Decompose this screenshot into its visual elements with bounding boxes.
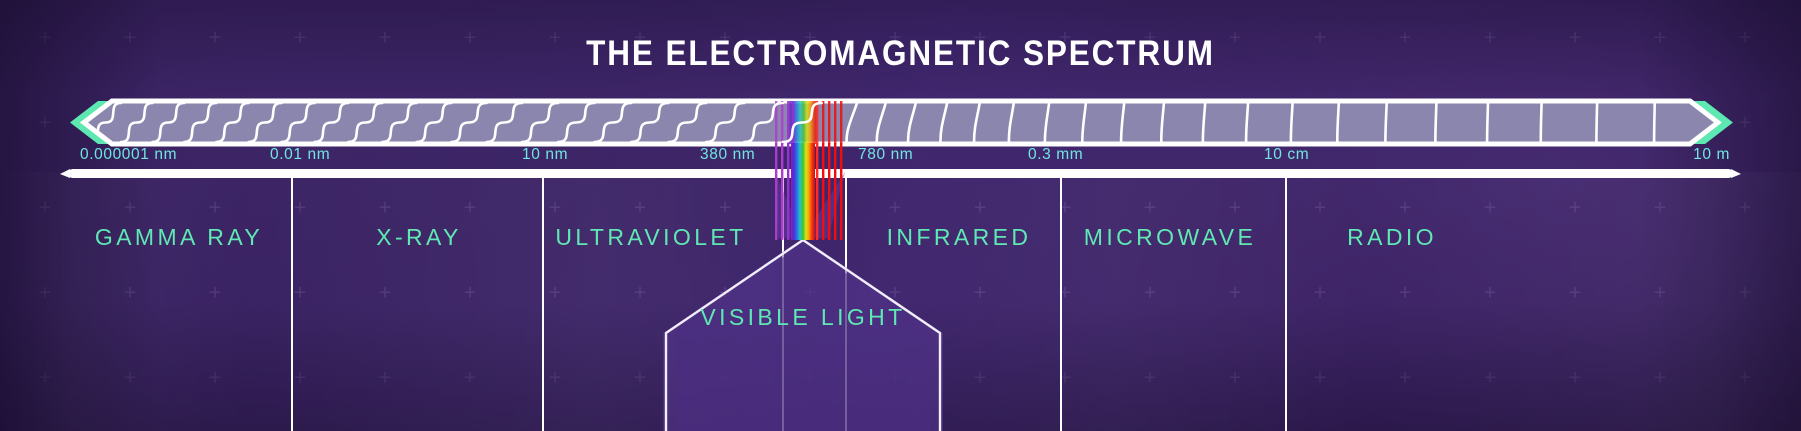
bar-red-line <box>822 101 824 144</box>
waveform-segment <box>1596 103 1597 142</box>
band-divider-1 <box>542 178 544 431</box>
band-divider-0 <box>291 178 293 431</box>
bar-violet-line <box>787 101 789 144</box>
waveform-segment <box>1385 103 1386 142</box>
wavelength-label-5: 0.3 mm <box>1028 146 1083 164</box>
bar-red-line <box>840 101 842 144</box>
band-label-microwave: MICROWAVE <box>1084 224 1256 251</box>
waveform-segment <box>1541 103 1542 142</box>
bar-red-line <box>828 101 830 144</box>
scale-axis-rule <box>68 169 1733 178</box>
band-label-infrared: INFRARED <box>887 224 1032 251</box>
bar-violet-line <box>775 101 777 144</box>
bar-violet-line <box>781 101 783 144</box>
spectrum-bar <box>0 92 1801 152</box>
bar-red-line <box>816 101 818 144</box>
waveform-segment <box>1654 103 1655 142</box>
callout-label-visible-light: VISIBLE LIGHT <box>700 304 905 331</box>
waveform-segment <box>1487 103 1488 142</box>
wavelength-label-6: 10 cm <box>1264 146 1309 164</box>
wavelength-label-7: 10 m <box>1693 146 1730 164</box>
wavelength-label-0: 0.000001 nm <box>80 146 177 164</box>
page-title: THE ELECTROMAGNETIC SPECTRUM <box>90 34 1711 74</box>
wavelength-label-3: 380 nm <box>700 146 755 164</box>
band-label-x-ray: X-RAY <box>376 224 462 251</box>
band-label-gamma-ray: GAMMA RAY <box>95 224 263 251</box>
wavelength-label-1: 0.01 nm <box>270 146 330 164</box>
band-divider-4 <box>1060 178 1062 431</box>
band-label-radio: RADIO <box>1347 224 1437 251</box>
waveform-segment <box>1337 103 1339 142</box>
waveform-segment <box>1435 103 1436 142</box>
wavelength-label-4: 780 nm <box>858 146 913 164</box>
bar-red-line <box>834 101 836 144</box>
wavelength-label-2: 10 nm <box>522 146 568 164</box>
band-label-ultraviolet: ULTRAVIOLET <box>555 224 746 251</box>
band-divider-5 <box>1285 178 1287 431</box>
infographic-canvas: ++++++++++++++++++++++++++++++++++++++++… <box>0 0 1801 431</box>
